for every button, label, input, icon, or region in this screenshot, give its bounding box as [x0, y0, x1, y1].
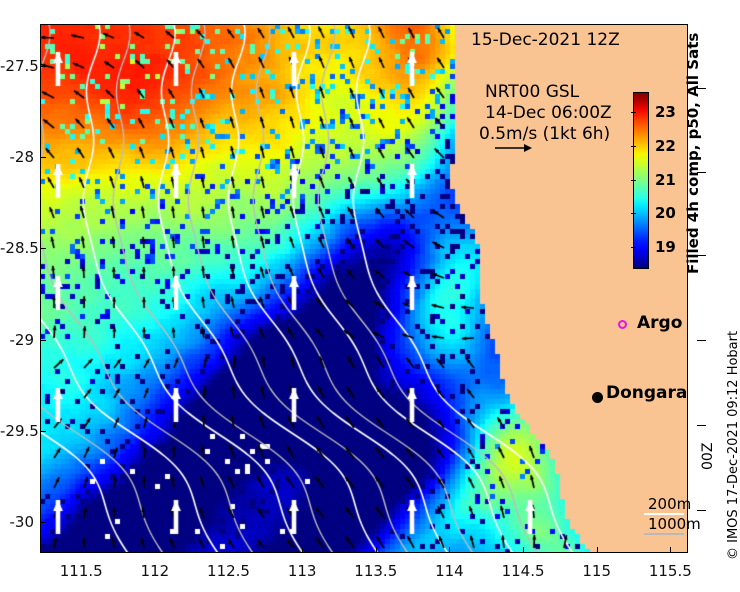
x-tick-label: 114: [435, 562, 464, 580]
product-line-0: NRT00 GSL: [485, 82, 579, 103]
depth-contour-1000m-label: 1000m: [648, 515, 701, 533]
colorbar-title: Filled 4h comp, p50, All Sats: [684, 33, 702, 274]
x-tick-mark: [155, 547, 156, 553]
x-tick-label: 111.5: [60, 562, 103, 580]
right-tick-mark: [697, 425, 706, 426]
title-date-label: 15-Dec-2021 12Z: [471, 30, 620, 50]
x-tick-label: 113.5: [354, 562, 397, 580]
y-tick-label: -29.5: [0, 422, 34, 440]
y-tick-mark: [40, 157, 46, 158]
right-tick-mark: [697, 88, 706, 89]
right-tick-mark: [697, 255, 706, 256]
depth-contour-200m-label: 200m: [648, 495, 691, 513]
colorbar-tick-label: 20: [655, 204, 676, 222]
argo-label: Argo: [637, 313, 682, 333]
colorbar-tick: [631, 247, 636, 248]
x-tick-label: 115: [582, 562, 611, 580]
x-tick-mark: [229, 547, 230, 553]
figure-root: 15-Dec-2021 12Z NRT00 GSL 14-Dec 06:00Z …: [0, 0, 740, 592]
x-tick-mark: [302, 547, 303, 553]
y-tick-label: -30: [0, 513, 34, 531]
right-tick-mark: [697, 172, 706, 173]
depth-contour-200m-line: [644, 513, 684, 515]
x-tick-mark: [376, 547, 377, 553]
copyright-label: © IMOS 17-Dec-2021 09:12 Hobart: [726, 331, 740, 560]
x-tick-label: 114.5: [502, 562, 545, 580]
colorbar-tick: [631, 146, 636, 147]
colorbar-tick-label: 19: [655, 238, 676, 256]
colorbar-tick-label: 21: [655, 171, 676, 189]
colorbar-tick-label: 23: [655, 103, 676, 121]
x-tick-label: 112: [141, 562, 170, 580]
argo-marker-icon: [618, 320, 627, 329]
x-tick-mark: [449, 547, 450, 553]
right-axis-label: 00Z: [700, 443, 716, 470]
x-tick-mark: [523, 547, 524, 553]
arrow-right-icon: [494, 141, 534, 155]
colorbar-tick: [631, 213, 636, 214]
y-tick-mark: [40, 431, 46, 432]
product-line-1: 14-Dec 06:00Z: [485, 103, 612, 124]
y-tick-label: -27.5: [0, 57, 34, 75]
x-tick-label: 113: [288, 562, 317, 580]
x-tick-mark: [81, 547, 82, 553]
dongara-label: Dongara: [606, 383, 687, 403]
dongara-marker-icon: [592, 392, 603, 403]
x-tick-label: 115.5: [649, 562, 692, 580]
y-tick-label: -28: [0, 148, 34, 166]
x-tick-mark: [670, 547, 671, 553]
x-tick-mark: [597, 547, 598, 553]
y-tick-label: -29: [0, 331, 34, 349]
y-tick-mark: [40, 66, 46, 67]
y-tick-label: -28.5: [0, 239, 34, 257]
colorbar-tick: [631, 112, 636, 113]
x-tick-label: 112.5: [207, 562, 250, 580]
y-tick-mark: [40, 248, 46, 249]
y-tick-mark: [40, 340, 46, 341]
right-tick-mark: [697, 340, 706, 341]
y-tick-mark: [40, 522, 46, 523]
depth-contour-1000m-line: [644, 533, 684, 535]
right-tick-mark: [697, 510, 706, 511]
colorbar-tick: [631, 180, 636, 181]
colorbar-tick-label: 22: [655, 137, 676, 155]
